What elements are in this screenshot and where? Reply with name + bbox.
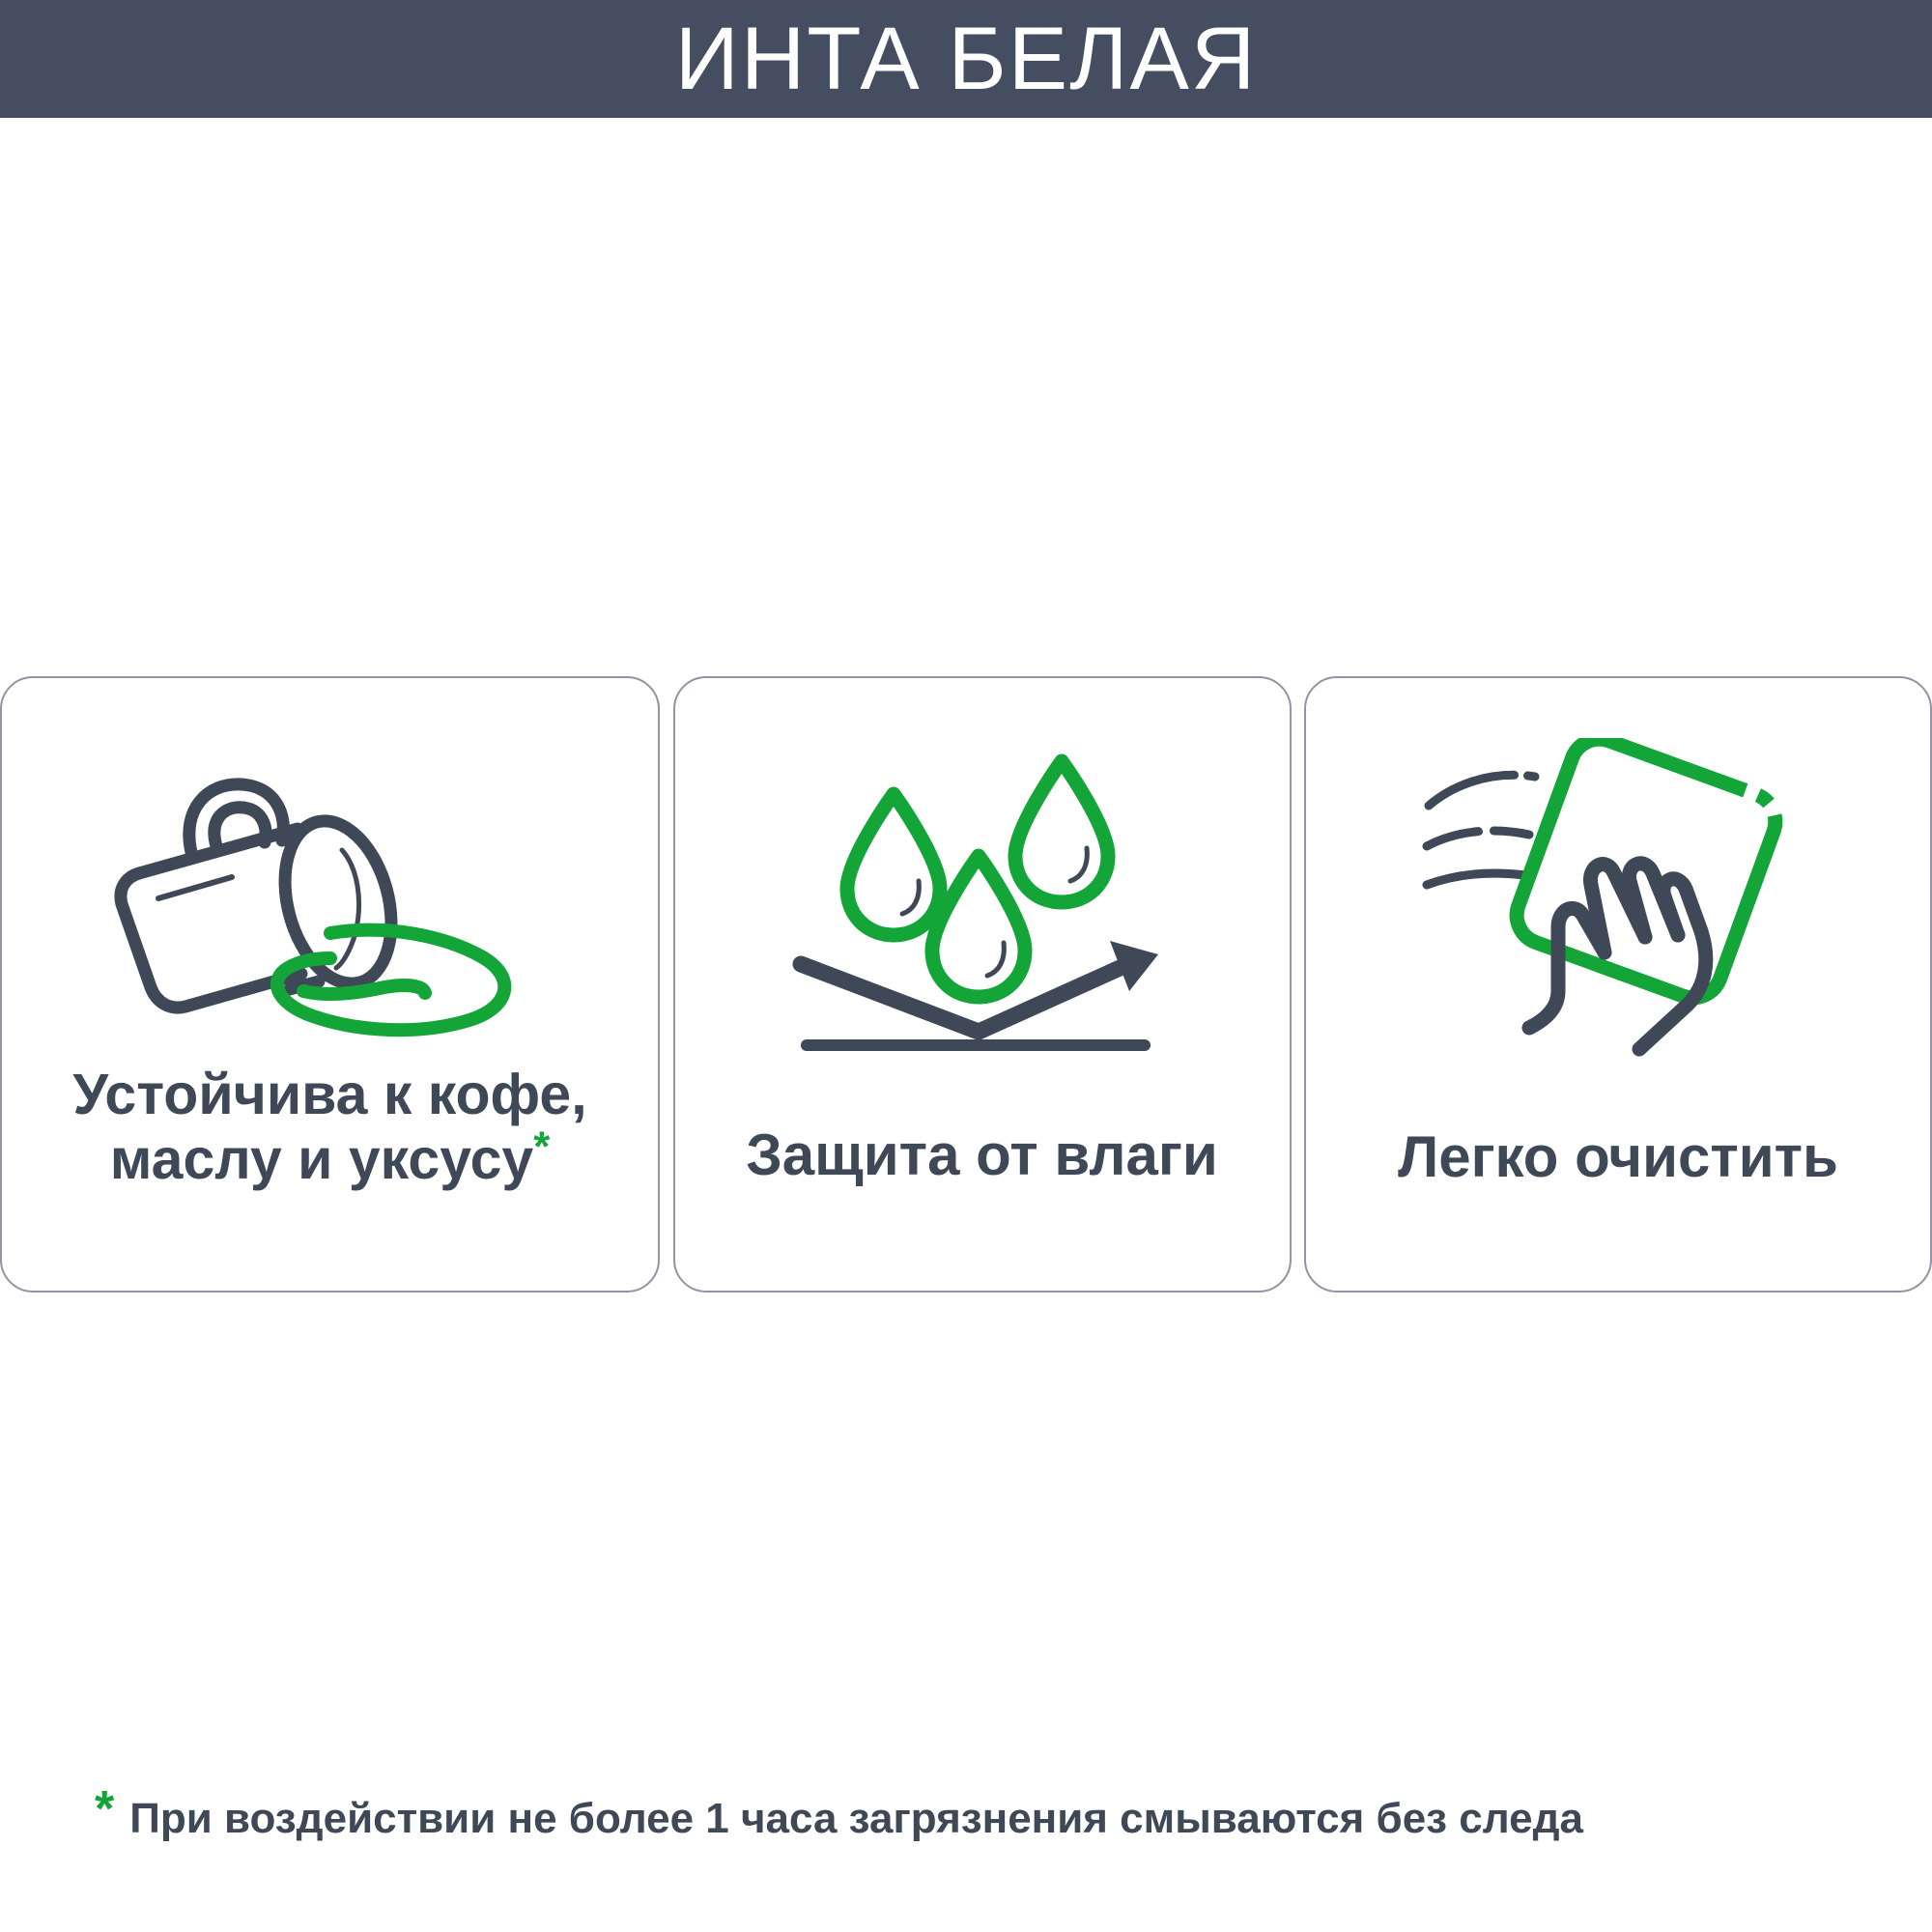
feature-card-label: Устойчива к кофе, маслу и уксусу* bbox=[2, 1063, 658, 1193]
hand-wiping-cloth-icon bbox=[1306, 738, 1930, 1066]
footnote: * При воздействии не более 1 часа загряз… bbox=[95, 1789, 1853, 1841]
feature-card-moisture-protection[interactable]: Защита от влаги bbox=[673, 676, 1292, 1293]
card-label-line-1: Устойчива к кофе, bbox=[72, 1063, 586, 1126]
spilled-mug-icon bbox=[2, 767, 658, 1057]
page-title: ИНТА БЕЛАЯ bbox=[675, 14, 1258, 103]
header-band: ИНТА БЕЛАЯ bbox=[0, 0, 1932, 118]
feature-card-label: Защита от влаги bbox=[675, 1122, 1290, 1188]
footnote-text: При воздействии не более 1 часа загрязне… bbox=[129, 1789, 1583, 1841]
feature-card-easy-clean[interactable]: Легко очистить bbox=[1304, 676, 1932, 1293]
footnote-asterisk-icon: * bbox=[95, 1789, 114, 1831]
water-droplets-repellent-icon bbox=[675, 748, 1290, 1057]
feature-card-stain-resistant[interactable]: Устойчива к кофе, маслу и уксусу* bbox=[0, 676, 660, 1293]
card-label-line-2: маслу и уксусу bbox=[110, 1127, 533, 1191]
footnote-marker: * bbox=[533, 1123, 550, 1171]
feature-cards-row: Устойчива к кофе, маслу и уксусу* bbox=[0, 676, 1932, 1294]
feature-card-label: Легко очистить bbox=[1306, 1124, 1930, 1190]
